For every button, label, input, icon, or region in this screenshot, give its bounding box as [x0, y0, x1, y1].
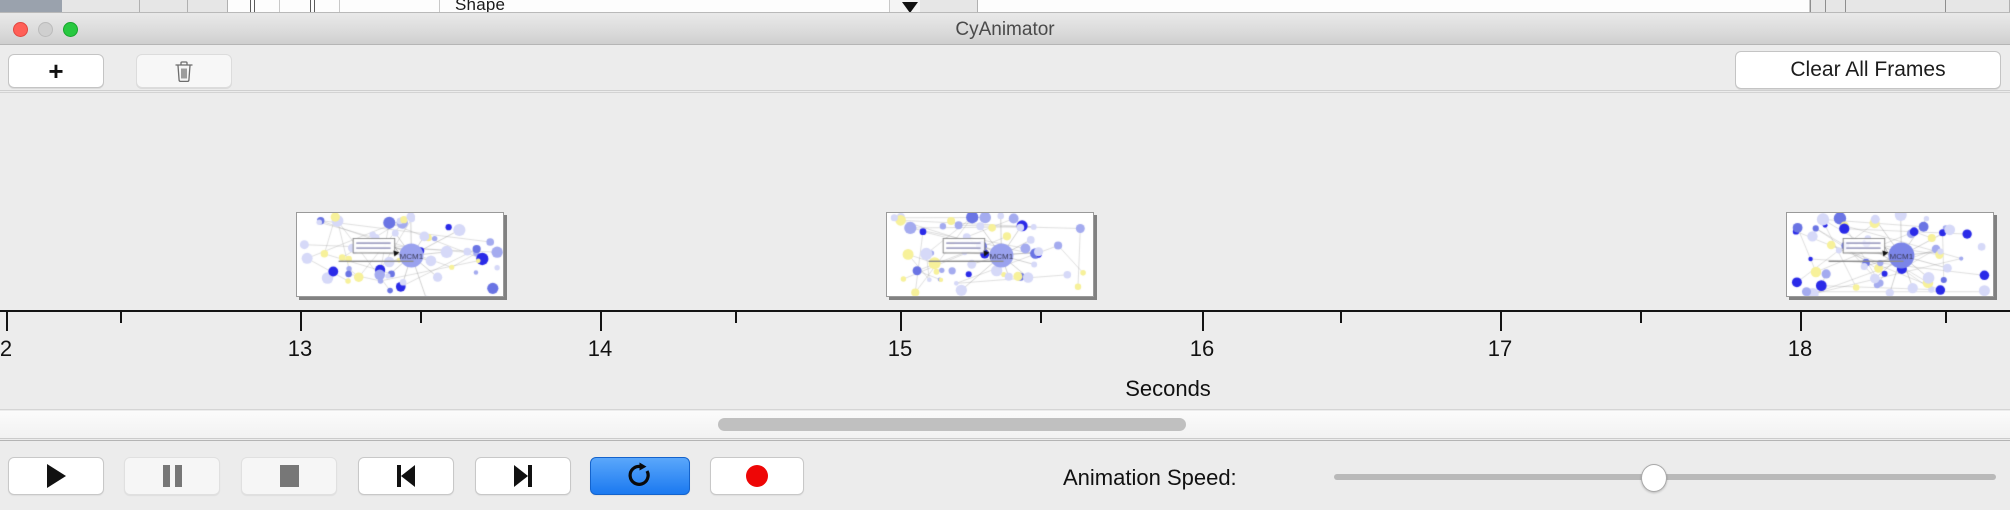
- background-window-strip: Shape: [0, 0, 2010, 13]
- pause-button[interactable]: [124, 457, 220, 495]
- add-frame-button[interactable]: +: [8, 54, 104, 88]
- timeline-scrollbar-thumb[interactable]: [718, 418, 1186, 431]
- skip-to-end-button[interactable]: [475, 457, 571, 495]
- timeline-scrollbar[interactable]: [0, 411, 2010, 439]
- frame-thumbnail[interactable]: [1786, 212, 1994, 297]
- skip-to-start-button[interactable]: [358, 457, 454, 495]
- stop-button[interactable]: [241, 457, 337, 495]
- cyanimator-window: Shape CyAnimator + Clear All Frames: [0, 0, 2010, 510]
- loop-icon: [627, 462, 653, 490]
- pause-icon: [163, 465, 182, 487]
- tick-label: 2: [0, 336, 12, 362]
- tick-label: 15: [888, 336, 912, 362]
- play-icon: [47, 464, 66, 488]
- window-title: CyAnimator: [0, 19, 2010, 41]
- tick-label: 17: [1488, 336, 1512, 362]
- loop-button[interactable]: [590, 457, 690, 495]
- frame-toolbar: + Clear All Frames: [0, 46, 2010, 91]
- delete-frame-button[interactable]: [136, 54, 232, 88]
- play-button[interactable]: [8, 457, 104, 495]
- trash-icon: [174, 60, 194, 82]
- frame-thumbnail[interactable]: [886, 212, 1094, 297]
- animation-speed-label: Animation Speed:: [1063, 465, 1237, 491]
- timeline-panel[interactable]: 2 13 14 15 16 17 18 Seconds: [0, 92, 2010, 410]
- background-window-label: Shape: [455, 0, 505, 13]
- clear-all-frames-button[interactable]: Clear All Frames: [1735, 51, 2001, 89]
- frame-thumbnail[interactable]: [296, 212, 504, 297]
- tick-label: 16: [1190, 336, 1214, 362]
- animation-speed-slider-thumb[interactable]: [1641, 464, 1667, 492]
- playback-controls: Animation Speed:: [0, 440, 2010, 510]
- record-icon: [746, 465, 768, 487]
- tick-label: 18: [1788, 336, 1812, 362]
- clear-all-frames-label: Clear All Frames: [1790, 58, 1945, 82]
- tick-label: 13: [288, 336, 312, 362]
- stop-icon: [280, 465, 299, 487]
- plus-icon: +: [48, 58, 63, 84]
- timeline-axis-title: Seconds: [1125, 376, 1211, 402]
- title-bar: CyAnimator: [0, 13, 2010, 45]
- record-button[interactable]: [710, 457, 804, 495]
- skip-to-end-icon: [514, 465, 532, 487]
- skip-to-start-icon: [397, 465, 415, 487]
- tick-label: 14: [588, 336, 612, 362]
